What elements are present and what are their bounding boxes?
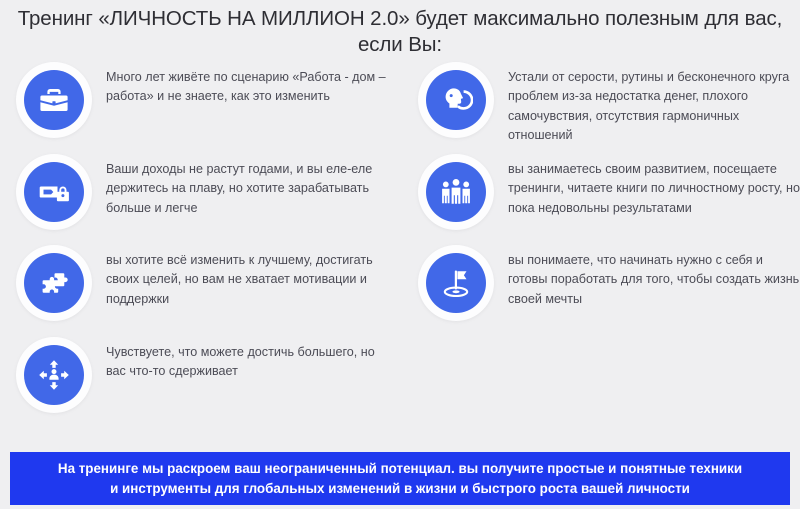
- icon-disc: [24, 253, 84, 313]
- list-item-text: Много лет живёте по сценарию «Работа - д…: [92, 62, 402, 107]
- banner-line-2: и инструменты для глобальных изменений в…: [58, 479, 742, 499]
- list-item-text: Ваши доходы не растут годами, и вы еле-е…: [92, 154, 402, 218]
- list-item-text: вы хотите всё изменить к лучшему, достиг…: [92, 245, 402, 309]
- list-item: Устали от серости, рутины и бесконечного…: [414, 62, 800, 146]
- icon-disc: [24, 162, 84, 222]
- icon-badge: [16, 62, 92, 138]
- list-item: Ваши доходы не растут годами, и вы еле-е…: [12, 154, 402, 230]
- icon-badge: [16, 154, 92, 230]
- bottom-banner: На тренинге мы раскроем ваш неограниченн…: [10, 452, 790, 505]
- icon-badge: [16, 337, 92, 413]
- list-item-text: Устали от серости, рутины и бесконечного…: [494, 62, 800, 146]
- list-item: вы занимаетесь своим развитием, посещает…: [414, 154, 800, 230]
- briefcase-icon: [37, 83, 71, 117]
- icon-disc: [24, 345, 84, 405]
- page-title: Тренинг «ЛИЧНОСТЬ НА МИЛЛИОН 2.0» будет …: [0, 6, 800, 58]
- head-mind-icon: [439, 83, 473, 117]
- list-item-text: Чувствуете, что можете достичь большего,…: [92, 337, 402, 382]
- icon-badge: [418, 245, 494, 321]
- list-item-text: вы понимаете, что начинать нужно с себя …: [494, 245, 800, 309]
- icon-disc: [24, 70, 84, 130]
- flag-podium-icon: [439, 266, 473, 300]
- promo-page: Тренинг «ЛИЧНОСТЬ НА МИЛЛИОН 2.0» будет …: [0, 0, 800, 509]
- list-item: вы хотите всё изменить к лучшему, достиг…: [12, 245, 402, 321]
- banner-line-1: На тренинге мы раскроем ваш неограниченн…: [58, 459, 742, 479]
- list-item: Много лет живёте по сценарию «Работа - д…: [12, 62, 402, 138]
- icon-disc: [426, 70, 486, 130]
- icon-badge: [16, 245, 92, 321]
- icon-disc: [426, 162, 486, 222]
- four-arrows-person-icon: [37, 358, 71, 392]
- wallet-lock-icon: [37, 175, 71, 209]
- icon-badge: [418, 62, 494, 138]
- list-item: Чувствуете, что можете достичь большего,…: [12, 337, 402, 413]
- group-people-icon: [439, 175, 473, 209]
- list-item: вы понимаете, что начинать нужно с себя …: [414, 245, 800, 321]
- puzzle-pieces-icon: [37, 266, 71, 300]
- icon-disc: [426, 253, 486, 313]
- icon-badge: [418, 154, 494, 230]
- list-item-text: вы занимаетесь своим развитием, посещает…: [494, 154, 800, 218]
